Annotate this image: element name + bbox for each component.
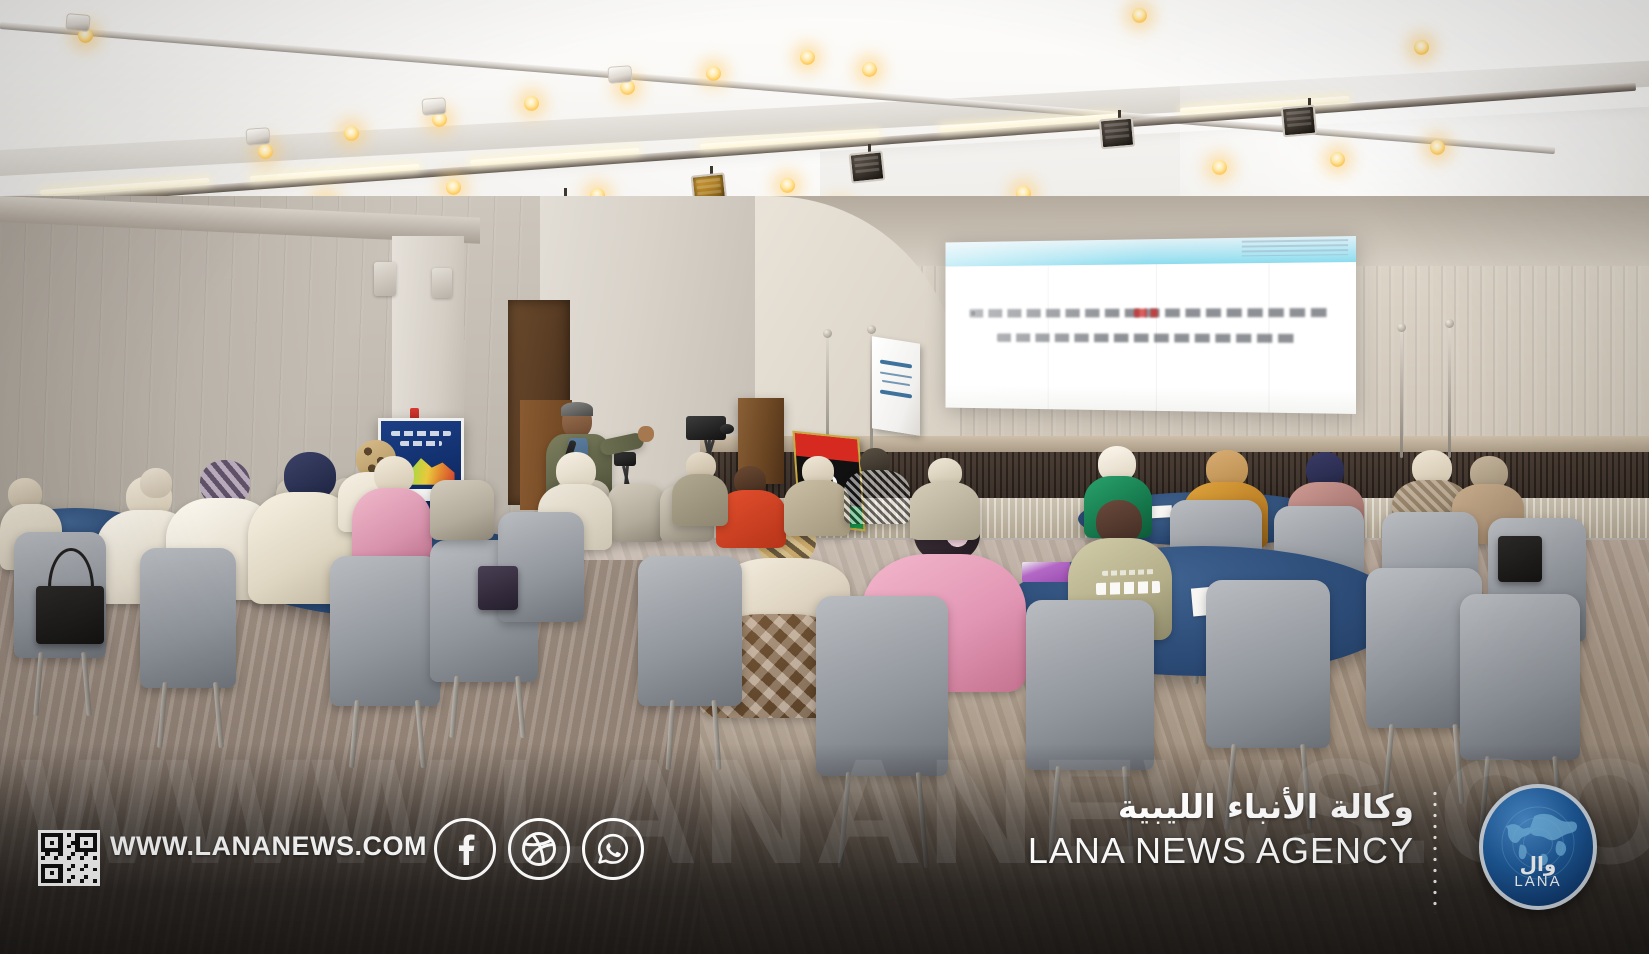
ceiling-bulb (1430, 140, 1445, 155)
floodlight[interactable] (1281, 105, 1317, 138)
presenter-hand (638, 426, 654, 442)
wall-speaker (374, 262, 396, 296)
chair[interactable] (330, 556, 440, 706)
ceiling-bulb (344, 126, 359, 141)
attendee (844, 448, 916, 522)
spotlight[interactable] (607, 65, 632, 84)
wall-speaker (432, 268, 452, 298)
flag-finial-icon (867, 325, 876, 334)
handbag[interactable] (36, 586, 104, 644)
spotlight[interactable] (421, 97, 446, 116)
dribbble-icon[interactable] (508, 818, 570, 880)
flagpole (1400, 330, 1403, 458)
brand-arabic: وكالة الأنباء الليبية (1118, 787, 1414, 826)
spotlight[interactable] (65, 13, 90, 32)
ceiling-bulb (1212, 160, 1227, 175)
chair[interactable] (430, 480, 494, 540)
ceiling-bulb (1414, 40, 1429, 55)
handbag[interactable] (478, 566, 518, 610)
camera-lens (720, 424, 734, 434)
attendee (352, 456, 438, 568)
chair[interactable] (140, 548, 236, 688)
garment-houndstooth (844, 470, 910, 524)
ceiling-bulb (1330, 152, 1345, 167)
brand-english: LANA NEWS AGENCY (1028, 830, 1414, 872)
garment (672, 474, 728, 526)
garment (784, 480, 850, 536)
vest-arabic-label (1096, 581, 1160, 595)
spotlight[interactable] (245, 127, 270, 146)
floodlight[interactable] (1099, 117, 1135, 150)
chair[interactable] (638, 556, 742, 706)
lana-logo[interactable]: وال LANA (1479, 784, 1597, 910)
attendee (124, 468, 194, 538)
logo-english: LANA (1483, 873, 1593, 890)
ceiling-bulb (780, 178, 795, 193)
ceiling-bulb (446, 180, 461, 195)
whatsapp-icon[interactable] (582, 818, 644, 880)
presenter-hair (561, 402, 593, 416)
chair[interactable] (1206, 580, 1330, 748)
ceiling-bulb (258, 144, 273, 159)
attendee (672, 452, 734, 524)
website-url[interactable]: WWW.LANANEWS.COM (110, 831, 427, 862)
flag-finial-icon (823, 329, 832, 338)
ceiling-bulb (1132, 8, 1147, 23)
ceiling-bulb (524, 96, 539, 111)
qr-code[interactable] (38, 830, 100, 886)
handbag[interactable] (1498, 536, 1542, 582)
facebook-icon[interactable] (434, 818, 496, 880)
divider (1433, 788, 1437, 913)
projection-screen (945, 236, 1356, 414)
ceiling-bulb (800, 50, 815, 65)
attendee (910, 458, 988, 538)
flag-finial-icon (1397, 323, 1406, 332)
hijab (140, 468, 172, 498)
garment (910, 482, 980, 540)
ceiling-bulb (706, 66, 721, 81)
floodlight[interactable] (849, 150, 886, 183)
photo-canvas: ★ ★ (0, 0, 1649, 954)
org-flag-left (872, 336, 920, 436)
ceiling-bulb (862, 62, 877, 77)
flagpole (1448, 326, 1451, 458)
flag-finial-icon (1445, 319, 1454, 328)
